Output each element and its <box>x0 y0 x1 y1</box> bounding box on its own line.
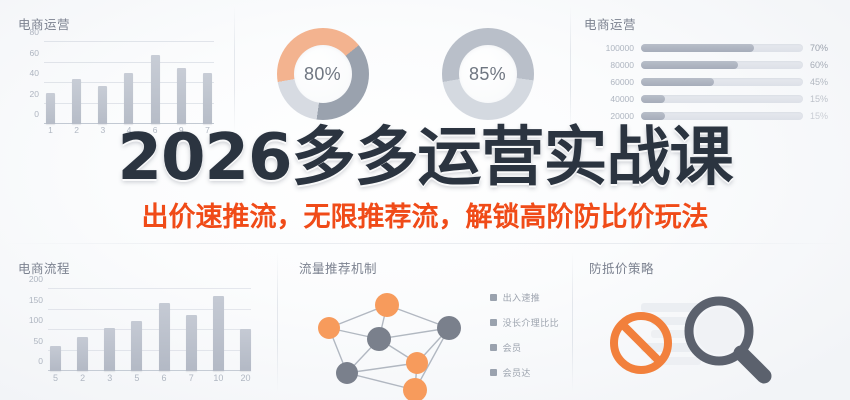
bar <box>46 93 55 124</box>
legend-item: 会员达 <box>490 366 559 379</box>
network-node <box>403 378 427 400</box>
horizontal-bar-label: 60000 <box>584 77 634 87</box>
strategy-illustration <box>589 281 834 393</box>
headline-block: 2026多多运营实战课 出价速推流，无限推荐流，解锁高阶防比价玩法 <box>0 126 850 234</box>
horizontal-bar-row: 2000015% <box>584 111 836 121</box>
y-axis-tick: 100 <box>29 315 43 325</box>
horizontal-bar-track <box>641 44 803 52</box>
network-node <box>437 316 461 340</box>
x-axis-tick: 10 <box>213 373 224 391</box>
horizontal-bar-row: 6000045% <box>584 77 836 87</box>
bar <box>177 68 186 124</box>
panel-network-diagram: 流量推荐机制 出入速推没长介理比比会员会员达 <box>285 248 575 400</box>
x-axis-tick: 7 <box>186 373 197 391</box>
bar <box>240 329 251 371</box>
bottom-left-bar-chart: 050100150200 5235671020 <box>18 285 253 393</box>
bar <box>124 73 133 124</box>
legend-item: 没长介理比比 <box>490 316 559 329</box>
network-node <box>367 327 391 351</box>
x-axis-tick: 20 <box>240 373 251 391</box>
legend-swatch-icon <box>490 369 497 376</box>
donut-chart-80: 80% <box>277 28 369 120</box>
legend-label: 没长介理比比 <box>503 316 559 329</box>
bar <box>151 55 160 124</box>
bar <box>104 328 115 371</box>
bar <box>131 321 142 371</box>
x-axis-tick: 5 <box>50 373 61 391</box>
x-axis-tick: 3 <box>104 373 115 391</box>
legend-swatch-icon <box>490 319 497 326</box>
y-axis-tick: 0 <box>38 356 43 366</box>
top-left-chart-title: 电商运营 <box>18 14 225 33</box>
horizontal-bar-track <box>641 95 803 103</box>
horizontal-bar-track <box>641 61 803 69</box>
y-axis-tick: 0 <box>34 109 39 119</box>
horizontal-bar-label: 20000 <box>584 111 634 121</box>
anti-price-strategy-title: 防抵价策略 <box>589 258 836 277</box>
y-axis-tick: 50 <box>34 336 43 346</box>
top-right-bar-list: 10000070%8000060%6000045%4000015%2000015… <box>584 43 836 121</box>
bar <box>213 296 224 371</box>
legend-label: 会员 <box>503 341 522 354</box>
y-axis-tick: 200 <box>29 274 43 284</box>
panel-bottom-left-chart: 电商流程 050100150200 5235671020 <box>0 248 268 400</box>
horizontal-bar-row: 8000060% <box>584 60 836 70</box>
panel-anti-price-strategy: 防抵价策略 <box>575 248 850 400</box>
horizontal-bar-fill <box>641 44 754 52</box>
horizontal-bar-percent: 60% <box>810 60 836 70</box>
x-axis-tick: 2 <box>77 373 88 391</box>
donut-80-center: 80% <box>294 45 352 103</box>
donut-85-value: 85% <box>469 64 506 85</box>
legend-label: 出入速推 <box>503 291 541 304</box>
top-right-chart-title: 电商运营 <box>584 14 836 33</box>
panel-top-left-chart: 电商运营 020406080 1234697 <box>0 0 235 140</box>
bar <box>72 79 81 124</box>
horizontal-bar-row: 10000070% <box>584 43 836 53</box>
donut-85-center: 85% <box>459 45 517 103</box>
horizontal-bar-track <box>641 112 803 120</box>
network-node <box>406 352 428 374</box>
donut-chart-85: 85% <box>442 28 534 120</box>
bottom-left-bars <box>50 289 251 371</box>
main-title: 2026多多运营实战课 <box>0 126 850 191</box>
bar <box>203 73 212 124</box>
network-graph-svg <box>299 283 479 400</box>
y-axis-tick: 40 <box>30 68 39 78</box>
network-node <box>318 317 340 339</box>
horizontal-bar-track <box>641 78 803 86</box>
horizontal-bar-percent: 70% <box>810 43 836 53</box>
y-axis-tick: 60 <box>30 48 39 58</box>
y-axis-tick: 80 <box>30 27 39 37</box>
bar <box>50 346 61 371</box>
horizontal-bar-fill <box>641 78 714 86</box>
horizontal-bar-fill <box>641 61 738 69</box>
legend-item: 出入速推 <box>490 291 559 304</box>
network-node <box>375 293 399 317</box>
bar <box>98 86 107 124</box>
donut-80-value: 80% <box>304 64 341 85</box>
panel-top-right-chart: 电商运营 10000070%8000060%6000045%4000015%20… <box>570 0 850 140</box>
horizontal-bar-label: 40000 <box>584 94 634 104</box>
bar <box>159 303 170 371</box>
x-axis-tick: 5 <box>131 373 142 391</box>
horizontal-bar-fill <box>641 112 665 120</box>
promo-banner: 电商运营 020406080 1234697 80% 85% 电商运营 1000… <box>0 0 850 400</box>
donut-chart-group: 80% 85% <box>240 14 570 134</box>
horizontal-bar-row: 4000015% <box>584 94 836 104</box>
bottom-left-chart-title: 电商流程 <box>18 258 258 277</box>
strategy-illustration-svg <box>589 281 834 393</box>
horizontal-bar-label: 100000 <box>584 43 634 53</box>
top-left-y-axis: 020406080 <box>18 42 42 124</box>
network-legend: 出入速推没长介理比比会员会员达 <box>490 291 559 379</box>
horizontal-bar-label: 80000 <box>584 60 634 70</box>
y-axis-tick: 150 <box>29 295 43 305</box>
top-left-bars <box>46 42 212 124</box>
divider-horizontal-top <box>6 243 844 244</box>
horizontal-bar-fill <box>641 95 665 103</box>
legend-label: 会员达 <box>503 366 531 379</box>
legend-swatch-icon <box>490 344 497 351</box>
magnifier-icon <box>689 301 764 376</box>
divider-vertical-bl <box>277 252 278 392</box>
horizontal-bar-percent: 15% <box>810 111 836 121</box>
bar <box>77 337 88 371</box>
y-axis-tick: 20 <box>30 89 39 99</box>
legend-item: 会员 <box>490 341 559 354</box>
horizontal-bar-percent: 15% <box>810 94 836 104</box>
bottom-left-y-axis: 050100150200 <box>18 289 46 371</box>
bar <box>186 315 197 371</box>
network-node <box>336 362 358 384</box>
network-graph: 出入速推没长介理比比会员会员达 <box>299 283 561 395</box>
horizontal-bar-percent: 45% <box>810 77 836 87</box>
bottom-left-x-axis: 5235671020 <box>50 373 251 391</box>
network-diagram-title: 流量推荐机制 <box>299 258 565 277</box>
legend-swatch-icon <box>490 294 497 301</box>
subtitle: 出价速推流，无限推荐流，解锁高阶防比价玩法 <box>0 195 850 234</box>
x-axis-tick: 6 <box>159 373 170 391</box>
